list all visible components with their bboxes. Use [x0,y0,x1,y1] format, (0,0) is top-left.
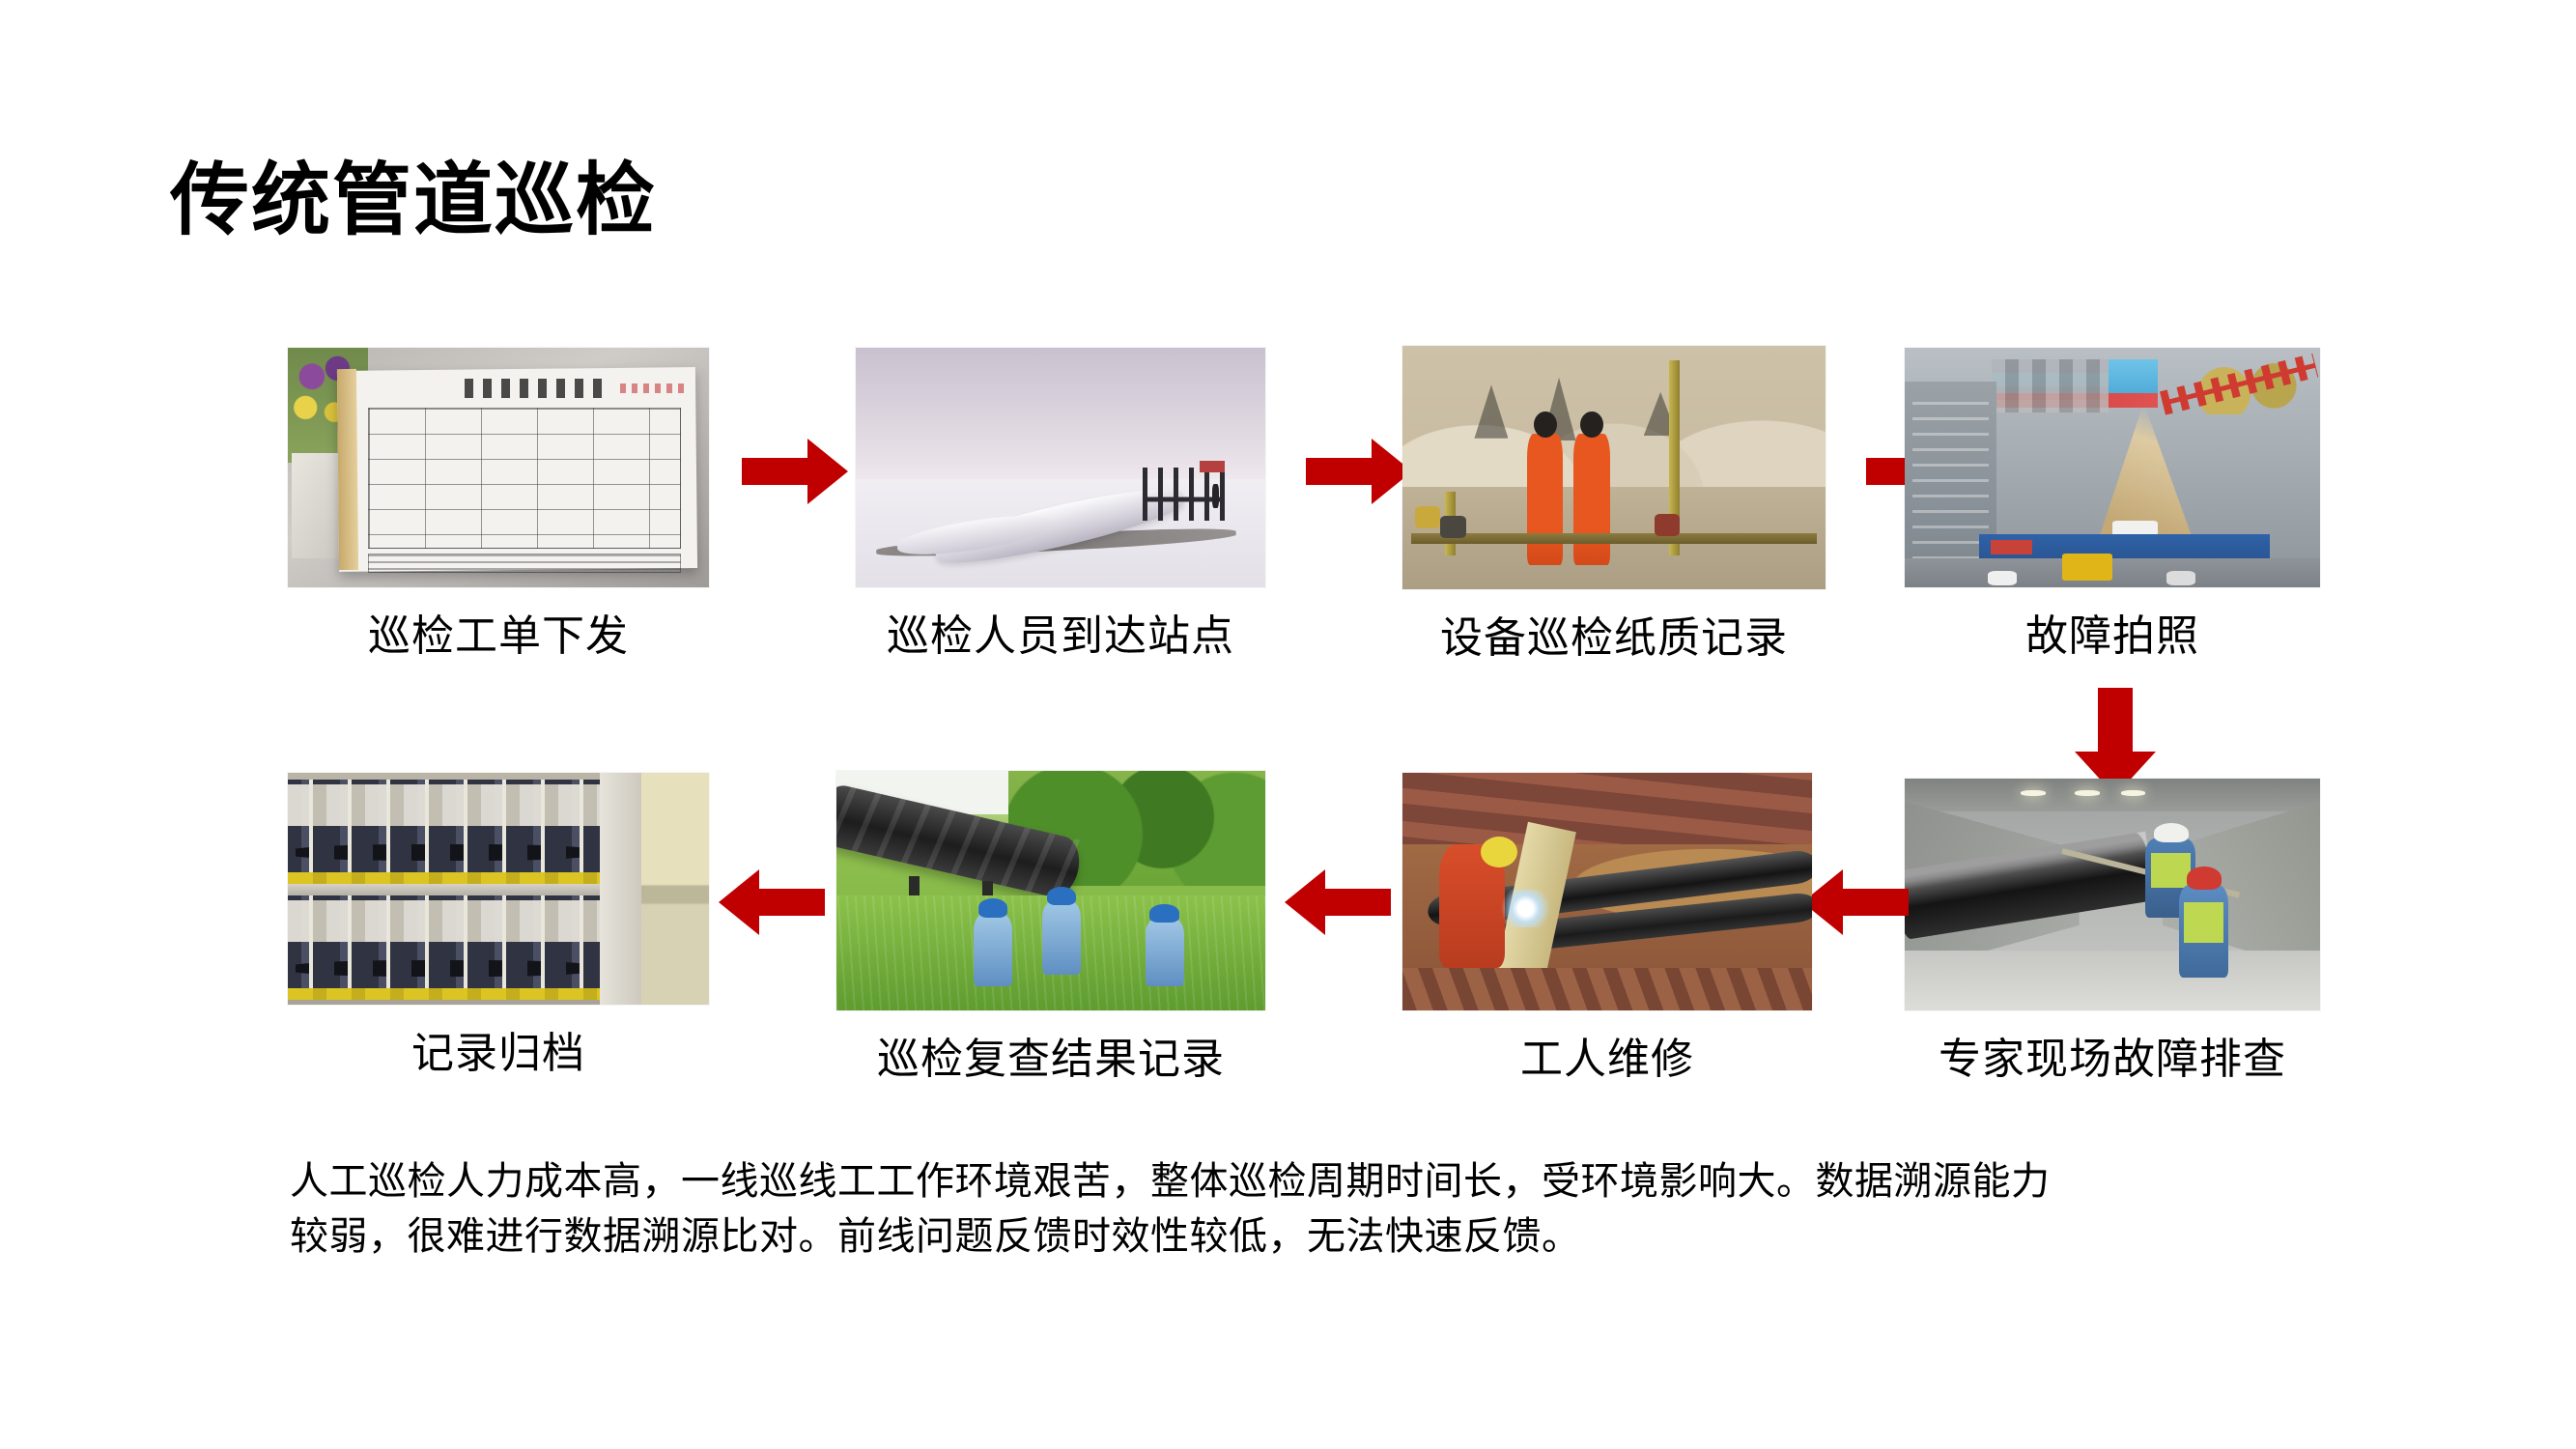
tunnel-lamp [2075,790,2100,796]
worker-head [1534,412,1557,438]
tunnel-lamp [2021,790,2046,796]
desert-wellhead-photo [1402,346,1826,589]
tunnel-floor [1905,951,2320,1010]
step-3-image [1402,346,1826,589]
rock-wall [1402,773,1812,854]
city-burst-photo [1905,348,2320,587]
safety-vest [2184,902,2223,943]
inspector-2 [1042,902,1081,974]
step-7-image [836,771,1265,1010]
summary-paragraph: 人工巡检人力成本高，一线巡线工工作环境艰苦，整体巡检周期时间长，受环境影响大。数… [290,1154,2289,1264]
field-inspection-photo [836,771,1265,1010]
arrow-right-icon-1 [742,437,848,506]
archive-binders-photo [288,773,709,1005]
safety-vest [2151,853,2191,888]
binder-labels [288,900,600,942]
form-number-text [620,384,683,393]
truck [2062,554,2112,580]
construction-fence [1979,534,2270,560]
binder-row-bottom [288,895,600,1000]
arrow-right-icon-2 [1306,437,1412,506]
binder-row-top [288,780,600,884]
flow-step-3[interactable]: 设备巡检纸质记录 [1402,346,1826,589]
blue-helmet [1149,904,1178,922]
binder-labels [288,784,600,826]
inspector-3 [1146,920,1184,986]
mosaic-blur [1992,359,2108,412]
blue-helmet [1047,887,1076,905]
station-sign [1200,461,1224,472]
step-2-caption: 巡检人员到达站点 [887,601,1234,663]
step-3-caption: 设备巡检纸质记录 [1440,603,1788,665]
work-order-form-photo [288,348,709,587]
car [1988,571,2017,585]
expert-worker-2 [2179,885,2229,978]
summary-line-1: 人工巡检人力成本高，一线巡线工工作环境艰苦，整体巡检周期时间长，受环境影响大。数… [290,1154,2289,1209]
step-1-caption: 巡检工单下发 [368,601,629,663]
step-4-image [1905,348,2320,587]
snow-pipeline-photo [856,348,1265,587]
car [2166,571,2195,585]
cabinet-frame [600,773,642,1005]
flow-step-2[interactable]: 巡检人员到达站点 [856,348,1265,587]
dunes [1402,346,1826,497]
shelf-board [288,884,608,895]
summary-line-2: 较弱，很难进行数据溯源比对。前线问题反馈时效性较低，无法快速反馈。 [290,1209,2289,1264]
rubble [1402,968,1812,1010]
road [1905,558,2320,587]
step-5-image [1905,779,2320,1010]
step-5-caption: 专家现场故障排查 [1939,1024,2286,1086]
arrow-left-icon-3 [719,867,825,937]
welding-arc-flash [1497,890,1554,927]
flow-step-8[interactable]: 记录归档 [288,773,709,1005]
white-helmet [2154,823,2189,842]
window-light [641,773,709,1005]
binder-yellow-band [288,988,600,1000]
horizontal-pipe [1411,533,1817,544]
step-8-image [288,773,709,1005]
inspector-1 [974,915,1012,986]
flow-step-6[interactable]: 工人维修 [1402,773,1812,1010]
step-1-image [288,348,709,587]
step-6-caption: 工人维修 [1520,1024,1694,1086]
flow-step-4[interactable]: 故障拍照 [1905,348,2320,587]
flow-step-5[interactable]: 专家现场故障排查 [1905,779,2320,1010]
step-8-caption: 记录归档 [411,1018,585,1080]
binder-finger-holes [288,844,600,861]
step-2-image [856,348,1265,587]
form-table-grid [368,408,682,549]
worker-orange-2 [1573,434,1609,565]
blue-helmet [978,898,1007,917]
form-spine [337,369,358,571]
valve [1415,506,1440,528]
tunnel-lamp [2121,790,2146,796]
step-7-caption: 巡检复查结果记录 [877,1024,1225,1086]
welder-trench-photo [1402,773,1812,1010]
arrow-left-icon-1 [1802,867,1909,937]
flow-step-7[interactable]: 巡检复查结果记录 [836,771,1265,1010]
valve [1440,516,1465,538]
worker-head [1580,412,1603,438]
binder-yellow-band [288,872,600,884]
form-heading-text [465,379,608,398]
yellow-helmet [1481,837,1517,867]
binder-finger-holes [288,960,600,977]
red-helmet [2187,867,2222,890]
worker-figure [1212,484,1219,508]
slide-canvas: 传统管道巡检 巡检工单下发 [0,0,2576,1449]
step-6-image [1402,773,1812,1010]
tunnel-ceiling [1905,779,2320,811]
step-4-caption: 故障拍照 [2025,601,2199,663]
flow-step-1[interactable]: 巡检工单下发 [288,348,709,587]
worker-orange-1 [1527,434,1563,565]
valve [1655,514,1680,536]
form-footnote [368,554,682,572]
arrow-left-icon-2 [1285,867,1391,937]
utility-tunnel-photo [1905,779,2320,1010]
